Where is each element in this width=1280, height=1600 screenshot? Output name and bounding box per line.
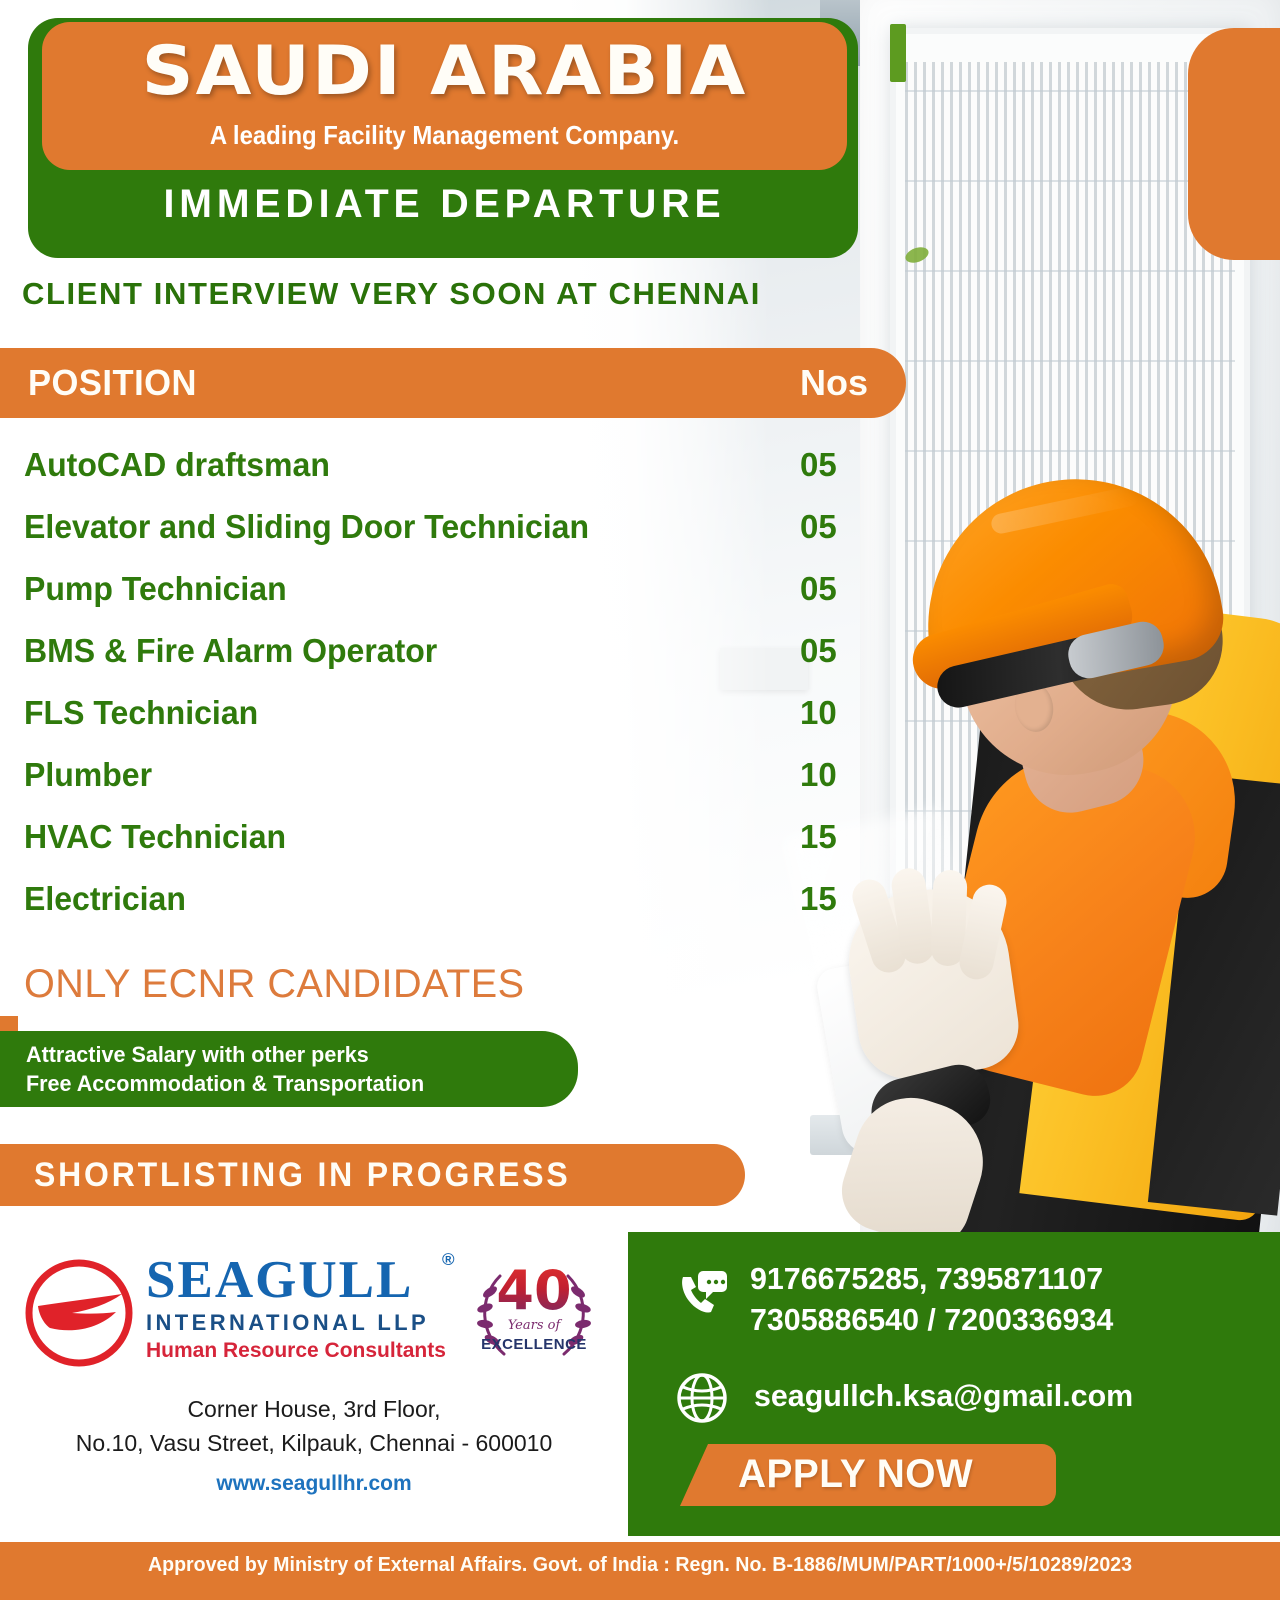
company-logo: SEAGULL ® INTERNATIONAL LLP Human Resour…	[24, 1252, 444, 1380]
company-name: SEAGULL	[146, 1252, 446, 1308]
position-name: Elevator and Sliding Door Technician	[24, 508, 589, 546]
position-count: 05	[800, 446, 837, 484]
address-line-2: No.10, Vasu Street, Kilpauk, Chennai - 6…	[0, 1426, 628, 1460]
company-website-link[interactable]: www.seagullhr.com	[0, 1472, 628, 1496]
apply-now-button[interactable]: APPLY NOW	[680, 1444, 1056, 1506]
phone-line-1[interactable]: 9176675285, 7395871107	[750, 1258, 1250, 1299]
company-subtitle: INTERNATIONAL LLP	[146, 1310, 446, 1336]
email-address[interactable]: seagullch.ksa@gmail.com	[754, 1378, 1133, 1414]
header-tagline: A leading Facility Management Company.	[74, 120, 815, 151]
anniversary-years-label: Years of	[484, 1318, 584, 1333]
decor-orange-top-right	[1188, 28, 1280, 260]
position-count: 05	[800, 570, 837, 608]
globe-icon	[676, 1372, 728, 1424]
table-row: Pump Technician 05	[0, 570, 906, 632]
shortlisting-banner: SHORTLISTING IN PROGRESS	[0, 1144, 745, 1206]
table-row: Plumber 10	[0, 756, 906, 818]
position-name: Plumber	[24, 756, 152, 794]
header-departure-banner: IMMEDIATE DEPARTURE	[50, 182, 839, 227]
approval-text: Approved by Ministry of External Affairs…	[13, 1542, 1267, 1588]
anniversary-excellence-label: EXCELLENCE	[478, 1336, 590, 1353]
seagull-bird-logo-icon	[24, 1258, 134, 1368]
position-name: FLS Technician	[24, 694, 258, 732]
column-header-position: POSITION	[28, 362, 197, 404]
anniversary-badge: 40 Years of EXCELLENCE	[470, 1254, 598, 1372]
table-row: BMS & Fire Alarm Operator 05	[0, 632, 906, 694]
position-count: 15	[800, 818, 837, 856]
perks-panel: Attractive Salary with other perks Free …	[0, 1031, 578, 1107]
position-table-rows: AutoCAD draftsman 05 Elevator and Slidin…	[0, 446, 906, 942]
position-name: AutoCAD draftsman	[24, 446, 330, 484]
position-name: Pump Technician	[24, 570, 287, 608]
registered-trademark-icon: ®	[442, 1250, 455, 1270]
position-count: 05	[800, 632, 837, 670]
position-name: HVAC Technician	[24, 818, 286, 856]
position-count: 10	[800, 756, 837, 794]
anniversary-number: 40	[492, 1260, 576, 1322]
worker-illustration	[840, 460, 1280, 1245]
position-count: 05	[800, 508, 837, 546]
ecnr-notice: ONLY ECNR CANDIDATES	[24, 962, 525, 1007]
position-name: BMS & Fire Alarm Operator	[24, 632, 437, 670]
company-info-block: SEAGULL ® INTERNATIONAL LLP Human Resour…	[0, 1226, 628, 1536]
table-row: Elevator and Sliding Door Technician 05	[0, 508, 906, 570]
phone-numbers[interactable]: 9176675285, 7395871107 7305886540 / 7200…	[750, 1258, 1260, 1340]
position-name: Electrician	[24, 880, 186, 918]
perk-line-accommodation: Free Accommodation & Transportation	[26, 1069, 567, 1098]
page-title-country: SAUDI ARABIA	[18, 24, 871, 120]
address-line-1: Corner House, 3rd Floor,	[0, 1392, 628, 1426]
table-row: AutoCAD draftsman 05	[0, 446, 906, 508]
table-row: Electrician 15	[0, 880, 906, 942]
company-wordmark: SEAGULL ® INTERNATIONAL LLP Human Resour…	[146, 1252, 446, 1363]
perk-line-salary: Attractive Salary with other perks	[26, 1040, 567, 1069]
recruitment-poster: SAUDI ARABIA A leading Facility Manageme…	[0, 0, 1280, 1600]
photo-green-accent-top	[890, 24, 906, 82]
position-count: 15	[800, 880, 837, 918]
table-row: FLS Technician 10	[0, 694, 906, 756]
client-interview-line: CLIENT INTERVIEW VERY SOON AT CHENNAI	[22, 276, 902, 312]
shortlisting-label: SHORTLISTING IN PROGRESS	[34, 1156, 570, 1195]
phone-chat-icon	[676, 1268, 728, 1320]
company-address: Corner House, 3rd Floor, No.10, Vasu Str…	[0, 1392, 628, 1460]
position-table-header: POSITION Nos	[0, 348, 906, 418]
position-count: 10	[800, 694, 837, 732]
company-descriptor: Human Resource Consultants	[146, 1339, 446, 1363]
apply-now-label: APPLY NOW	[738, 1452, 973, 1497]
phone-line-2[interactable]: 7305886540 / 7200336934	[750, 1299, 1250, 1340]
table-row: HVAC Technician 15	[0, 818, 906, 880]
approval-footer: Approved by Ministry of External Affairs…	[0, 1542, 1280, 1600]
column-header-nos: Nos	[800, 362, 868, 404]
